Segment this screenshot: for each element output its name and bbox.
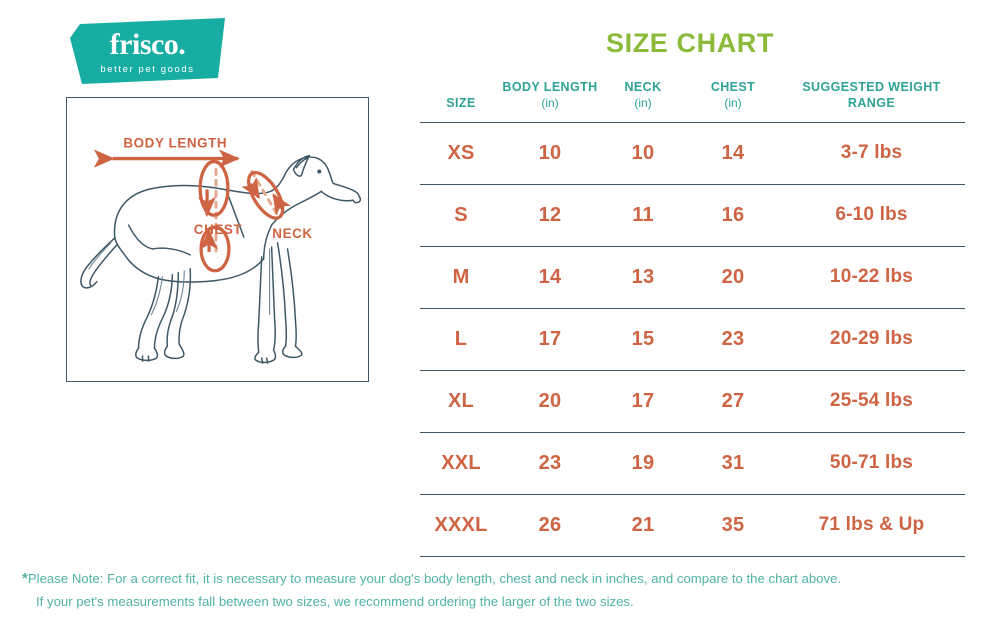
body-length-annotation: BODY LENGTH (113, 136, 238, 159)
table-row: M14132010-22 lbs (420, 246, 965, 308)
neck-cell: 15 (598, 308, 688, 370)
chest-cell: 27 (688, 370, 778, 432)
size-cell: XL (420, 370, 502, 432)
column-header-chest-unit: (in) (688, 95, 778, 111)
chest-cell: 14 (688, 122, 778, 184)
weight-cell: 6-10 lbs (778, 184, 965, 246)
dog-illustration: BODY LENGTH CHEST NECK (67, 98, 368, 381)
dog-body-outline (81, 156, 360, 364)
footnote-line-1: Please Note: For a correct fit, it is ne… (28, 571, 841, 586)
chest-cell: 31 (688, 432, 778, 494)
column-header-size: SIZE (420, 78, 502, 122)
neck-cell: 10 (598, 122, 688, 184)
column-header-body-length-label: BODY LENGTH (502, 80, 597, 94)
chest-cell: 23 (688, 308, 778, 370)
footnote-line-2: If your pet's measurements fall between … (22, 591, 977, 612)
size-cell: M (420, 246, 502, 308)
body-length-cell: 26 (502, 494, 598, 556)
size-chart-table: SIZE BODY LENGTH (in) NECK (in) CHEST (i… (420, 78, 965, 557)
logo-wordmark: frisco. (110, 30, 186, 60)
weight-cell: 10-22 lbs (778, 246, 965, 308)
neck-cell: 19 (598, 432, 688, 494)
size-cell: XXL (420, 432, 502, 494)
column-header-neck-unit: (in) (598, 95, 688, 111)
neck-cell: 17 (598, 370, 688, 432)
column-header-body-length-unit: (in) (502, 95, 598, 111)
column-header-body-length: BODY LENGTH (in) (502, 78, 598, 122)
neck-label: NECK (272, 226, 312, 241)
column-header-chest-label: CHEST (711, 80, 755, 94)
table-header-row: SIZE BODY LENGTH (in) NECK (in) CHEST (i… (420, 78, 965, 122)
dog-measurement-diagram: BODY LENGTH CHEST NECK (66, 97, 369, 382)
column-header-neck: NECK (in) (598, 78, 688, 122)
weight-cell: 71 lbs & Up (778, 494, 965, 556)
body-length-label: BODY LENGTH (123, 136, 227, 151)
chest-cell: 20 (688, 246, 778, 308)
size-cell: S (420, 184, 502, 246)
table-row: XXL23193150-71 lbs (420, 432, 965, 494)
table-row: L17152320-29 lbs (420, 308, 965, 370)
table-body: XS1010143-7 lbsS1211166-10 lbsM14132010-… (420, 122, 965, 556)
column-header-chest: CHEST (in) (688, 78, 778, 122)
chest-annotation: CHEST (194, 162, 243, 271)
size-cell: XS (420, 122, 502, 184)
footer-note: *Please Note: For a correct fit, it is n… (22, 567, 977, 613)
logo-tagline: better pet goods (100, 65, 194, 75)
weight-cell: 25-54 lbs (778, 370, 965, 432)
table-row: XXXL26213571 lbs & Up (420, 494, 965, 556)
body-length-cell: 20 (502, 370, 598, 432)
column-header-size-label: SIZE (446, 96, 475, 110)
table-row: XS1010143-7 lbs (420, 122, 965, 184)
weight-cell: 3-7 lbs (778, 122, 965, 184)
brand-logo: frisco. better pet goods (70, 18, 225, 84)
size-cell: XXXL (420, 494, 502, 556)
body-length-cell: 17 (502, 308, 598, 370)
body-length-cell: 10 (502, 122, 598, 184)
size-cell: L (420, 308, 502, 370)
column-header-neck-label: NECK (624, 80, 661, 94)
weight-cell: 20-29 lbs (778, 308, 965, 370)
table-row: S1211166-10 lbs (420, 184, 965, 246)
logo-text-group: frisco. better pet goods (70, 18, 225, 84)
column-header-weight-range: SUGGESTED WEIGHT RANGE (778, 78, 965, 122)
page-title: SIZE CHART (420, 28, 960, 59)
body-length-cell: 12 (502, 184, 598, 246)
table-row: XL20172725-54 lbs (420, 370, 965, 432)
neck-cell: 13 (598, 246, 688, 308)
chest-cell: 16 (688, 184, 778, 246)
weight-cell: 50-71 lbs (778, 432, 965, 494)
table-header: SIZE BODY LENGTH (in) NECK (in) CHEST (i… (420, 78, 965, 122)
body-length-cell: 23 (502, 432, 598, 494)
chest-label: CHEST (194, 222, 243, 237)
neck-cell: 11 (598, 184, 688, 246)
column-header-weight-range-label: SUGGESTED WEIGHT RANGE (802, 80, 940, 109)
body-length-cell: 14 (502, 246, 598, 308)
dog-inner-contours (89, 243, 270, 314)
chest-cell: 35 (688, 494, 778, 556)
neck-cell: 21 (598, 494, 688, 556)
